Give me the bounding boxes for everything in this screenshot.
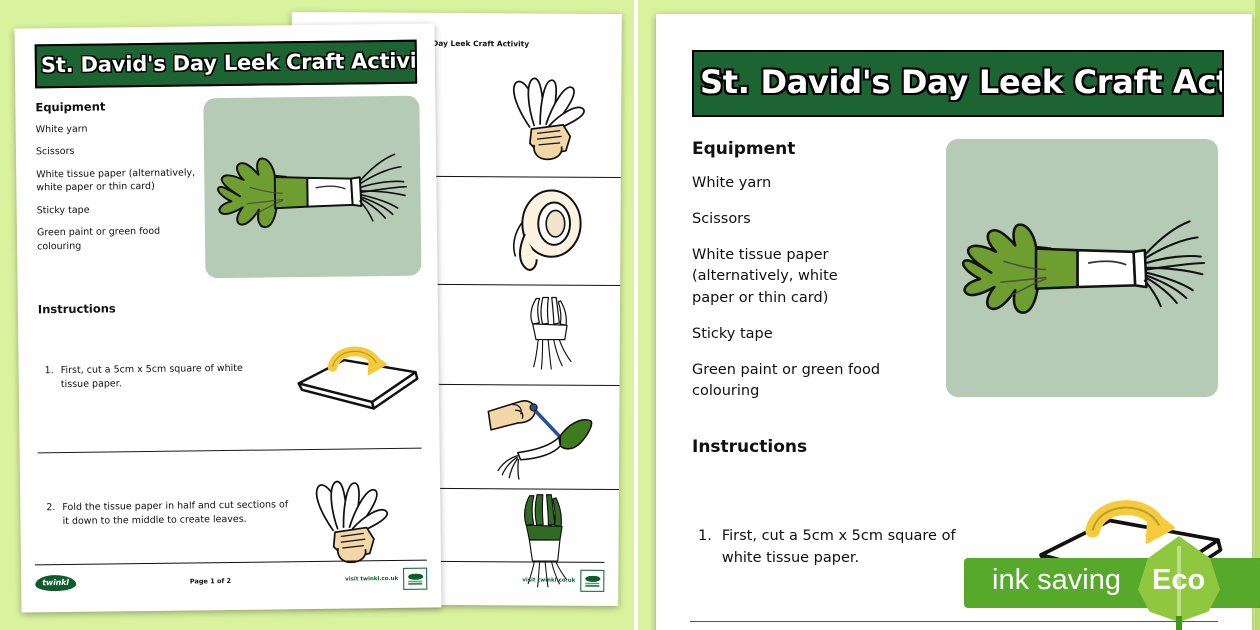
screenshot-root: St. David's Day Leek Craft Activity a ou <box>0 0 1260 630</box>
equipment-item: White yarn <box>692 173 942 195</box>
step-text: Fold the tissue paper in half and cut se… <box>62 498 296 528</box>
hand-holding-leaves-illustration <box>294 459 403 572</box>
equipment-item: Sticky tape <box>692 324 942 346</box>
page-title-banner: St. David's Day Leek Craft Activity <box>35 40 418 89</box>
leek-illustration <box>956 191 1212 343</box>
equipment-heading: Equipment <box>692 139 942 159</box>
page-one-sheet[interactable]: St. David's Day Leek Craft Activity Equi… <box>14 23 441 612</box>
ink-saving-eco-badge[interactable]: ink saving Eco <box>956 552 1260 614</box>
visit-twinkl[interactable]: visit twinkl.co.uk <box>522 569 604 592</box>
step-number: 1. <box>698 525 712 570</box>
left-preview-panel: St. David's Day Leek Craft Activity a ou <box>0 0 634 630</box>
equipment-item: Green paint or green food colouring <box>692 360 888 404</box>
twinkl-badge-icon <box>403 568 427 590</box>
page-one-zoomed-sheet[interactable]: St. David's Day Leek Craft Activity Equi… <box>656 14 1252 630</box>
page-footer: twinkl Page 1 of 2 visit twinkl.co.uk <box>21 567 441 594</box>
equipment-item: Scissors <box>36 144 198 159</box>
leek-outline-illustration <box>514 289 587 379</box>
visit-twinkl[interactable]: visit twinkl.co.uk <box>345 568 427 591</box>
twinkl-badge-icon <box>580 570 604 592</box>
step-number: 1. <box>45 364 54 392</box>
page-number: Page 1 of 2 <box>190 577 231 586</box>
instructions-heading: Instructions <box>18 275 438 316</box>
ink-saving-label: ink saving <box>992 564 1121 597</box>
right-zoom-panel: St. David's Day Leek Craft Activity Equi… <box>634 0 1260 630</box>
leek-photo-box <box>946 139 1218 397</box>
equipment-item: Scissors <box>692 209 942 231</box>
painting-hand-illustration <box>475 390 608 483</box>
leek-photo-box <box>203 96 421 279</box>
hand-holding-leaves-illustration <box>491 56 600 169</box>
leaf-stem-icon <box>1176 616 1182 630</box>
visit-twinkl-label: visit twinkl.co.uk <box>345 576 398 583</box>
tape-roll-illustration <box>500 182 591 279</box>
equipment-item: Sticky tape <box>37 202 199 217</box>
equipment-heading: Equipment <box>35 98 197 114</box>
instructions-heading: Instructions <box>656 403 1252 457</box>
equipment-item: White tissue paper (alternatively, white… <box>692 245 878 310</box>
equipment-item: Green paint or green food colouring <box>37 225 199 254</box>
step-number: 2. <box>46 501 55 529</box>
tissue-paper-illustration <box>292 340 425 420</box>
visit-twinkl-label: visit twinkl.co.uk <box>522 577 575 583</box>
eco-label: Eco <box>1152 564 1205 597</box>
step-text: First, cut a 5cm x 5cm square of white t… <box>61 362 245 392</box>
leek-illustration <box>212 130 413 252</box>
twinkl-logo[interactable]: twinkl <box>35 575 76 591</box>
equipment-item: White yarn <box>36 121 198 136</box>
equipment-item: White tissue paper (alternatively, white… <box>36 166 198 195</box>
page-title-banner-large: St. David's Day Leek Craft Activity <box>692 50 1224 117</box>
